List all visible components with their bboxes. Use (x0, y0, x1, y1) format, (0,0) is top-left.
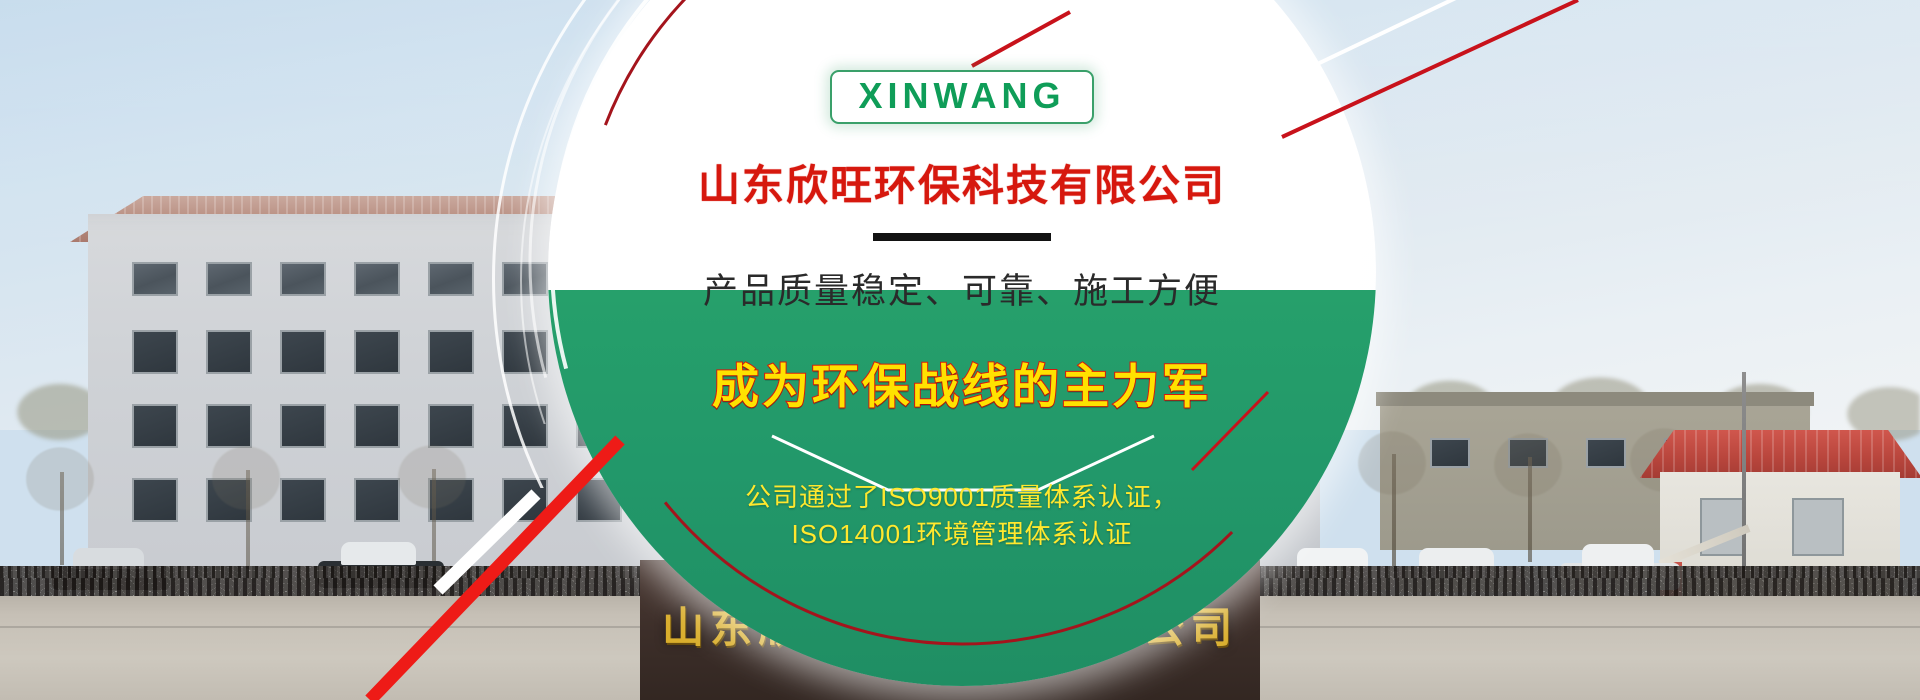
certification-block: 公司通过了ISO9001质量体系认证， ISO14001环境管理体系认证 (745, 479, 1179, 554)
car-roof (1582, 544, 1654, 567)
car-roof (341, 542, 417, 565)
tree-trunk (60, 472, 64, 565)
building-window (502, 330, 548, 374)
building-window (280, 262, 326, 296)
brand-badge-label: XINWANG (858, 77, 1065, 115)
building-window (502, 404, 548, 448)
tree-trunk (1392, 454, 1396, 572)
building-window (354, 262, 400, 296)
brand-badge: XINWANG (830, 70, 1093, 124)
headline-slogan: 成为环保战线的主力军 (712, 348, 1212, 417)
banner-stage: 山东欣旺环保科技有限公司 (0, 0, 1920, 700)
title-divider (873, 233, 1051, 241)
tree-trunk (432, 469, 436, 574)
feature-slogan: 产品质量稳定、可靠、施工方便 (703, 263, 1221, 314)
gatehouse-roof (1640, 430, 1920, 478)
building-window (206, 262, 252, 296)
building-window (132, 404, 178, 448)
building-window (132, 478, 178, 522)
building-window (428, 330, 474, 374)
building-window (428, 262, 474, 296)
gatehouse-window (1792, 498, 1844, 556)
building-window (354, 330, 400, 374)
building-window (502, 262, 548, 296)
tree-trunk (1528, 457, 1532, 562)
banner-content: XINWANG 山东欣旺环保科技有限公司 产品质量稳定、可靠、施工方便 成为环保… (548, 0, 1376, 686)
building-window (280, 330, 326, 374)
certification-line-1: 公司通过了ISO9001质量体系认证， (745, 479, 1179, 517)
building-window (132, 330, 178, 374)
certification-line-2: ISO14001环境管理体系认证 (745, 516, 1179, 554)
company-name: 山东欣旺环保科技有限公司 (698, 152, 1226, 213)
building-window (502, 478, 548, 522)
tree-trunk (246, 470, 250, 569)
building-window (206, 330, 252, 374)
building-window (132, 262, 178, 296)
